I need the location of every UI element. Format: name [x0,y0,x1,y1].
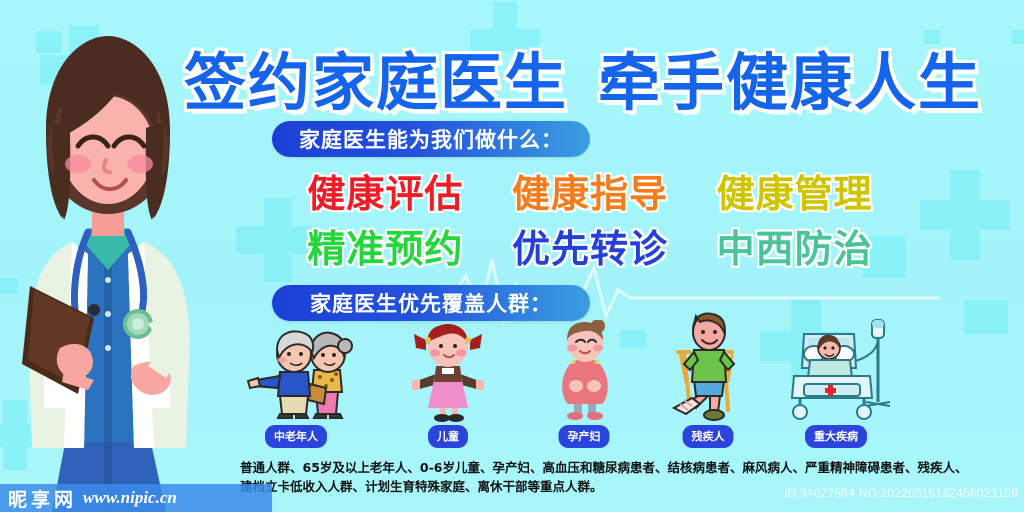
service-item-tcm-western-prevention: 中西防治 [695,218,894,273]
group-label-pregnant: 孕产妇 [559,425,610,448]
watermark-url: www.nipic.cn [83,488,177,508]
group-item-elderly: 中老年人 [236,318,356,448]
service-item-health-assessment: 健康评估 [286,163,485,218]
poster-headline: 签约家庭医生 牵手健康人生 [178,40,988,114]
services-grid: 健康评估 健康指导 健康管理 精准预约 优先转诊 中西防治 [286,163,894,273]
watermark: 昵享网 www.nipic.cn [0,484,272,512]
banner-what-doctors-do: 家庭医生能为我们做什么： [272,121,590,157]
group-label-serious-illness: 重大疾病 [805,425,867,448]
priority-groups-row: 中老年人 [236,318,996,448]
square-shape [1012,30,1024,44]
image-id-text: ID:34027884 NO:20220515162456023109 [784,486,1018,500]
group-label-child: 儿童 [428,425,468,448]
pregnant-woman-icon [552,320,618,422]
service-item-health-guidance: 健康指导 [491,163,690,218]
group-item-serious-illness: 重大疾病 [776,318,896,448]
group-item-child: 儿童 [388,318,508,448]
headline-part1: 签约家庭医生 [184,32,568,122]
hospital-bed-patient-icon [778,310,898,422]
poster-canvas: 签约家庭医生 牵手健康人生 家庭医生能为我们做什么： 健康评估 健康指导 健康管… [0,0,1024,512]
group-label-disabled: 残疾人 [683,425,734,448]
watermark-brand: 昵享网 [8,485,77,512]
group-item-disabled: 残疾人 [648,318,768,448]
cross-shape-icon [920,170,1010,260]
service-item-priority-referral: 优先转诊 [491,218,690,273]
headline-part2: 牵手健康人生 [598,32,982,122]
banner-priority-groups: 家庭医生优先覆盖人群： [272,285,590,321]
disabled-boy-crutches-icon [666,312,750,422]
service-item-precise-appointment: 精准预约 [286,218,485,273]
child-girl-icon [410,322,486,422]
group-label-elderly: 中老年人 [265,425,327,448]
service-item-health-management: 健康管理 [695,163,894,218]
group-item-pregnant: 孕产妇 [524,318,644,448]
elderly-couple-icon [244,318,360,422]
